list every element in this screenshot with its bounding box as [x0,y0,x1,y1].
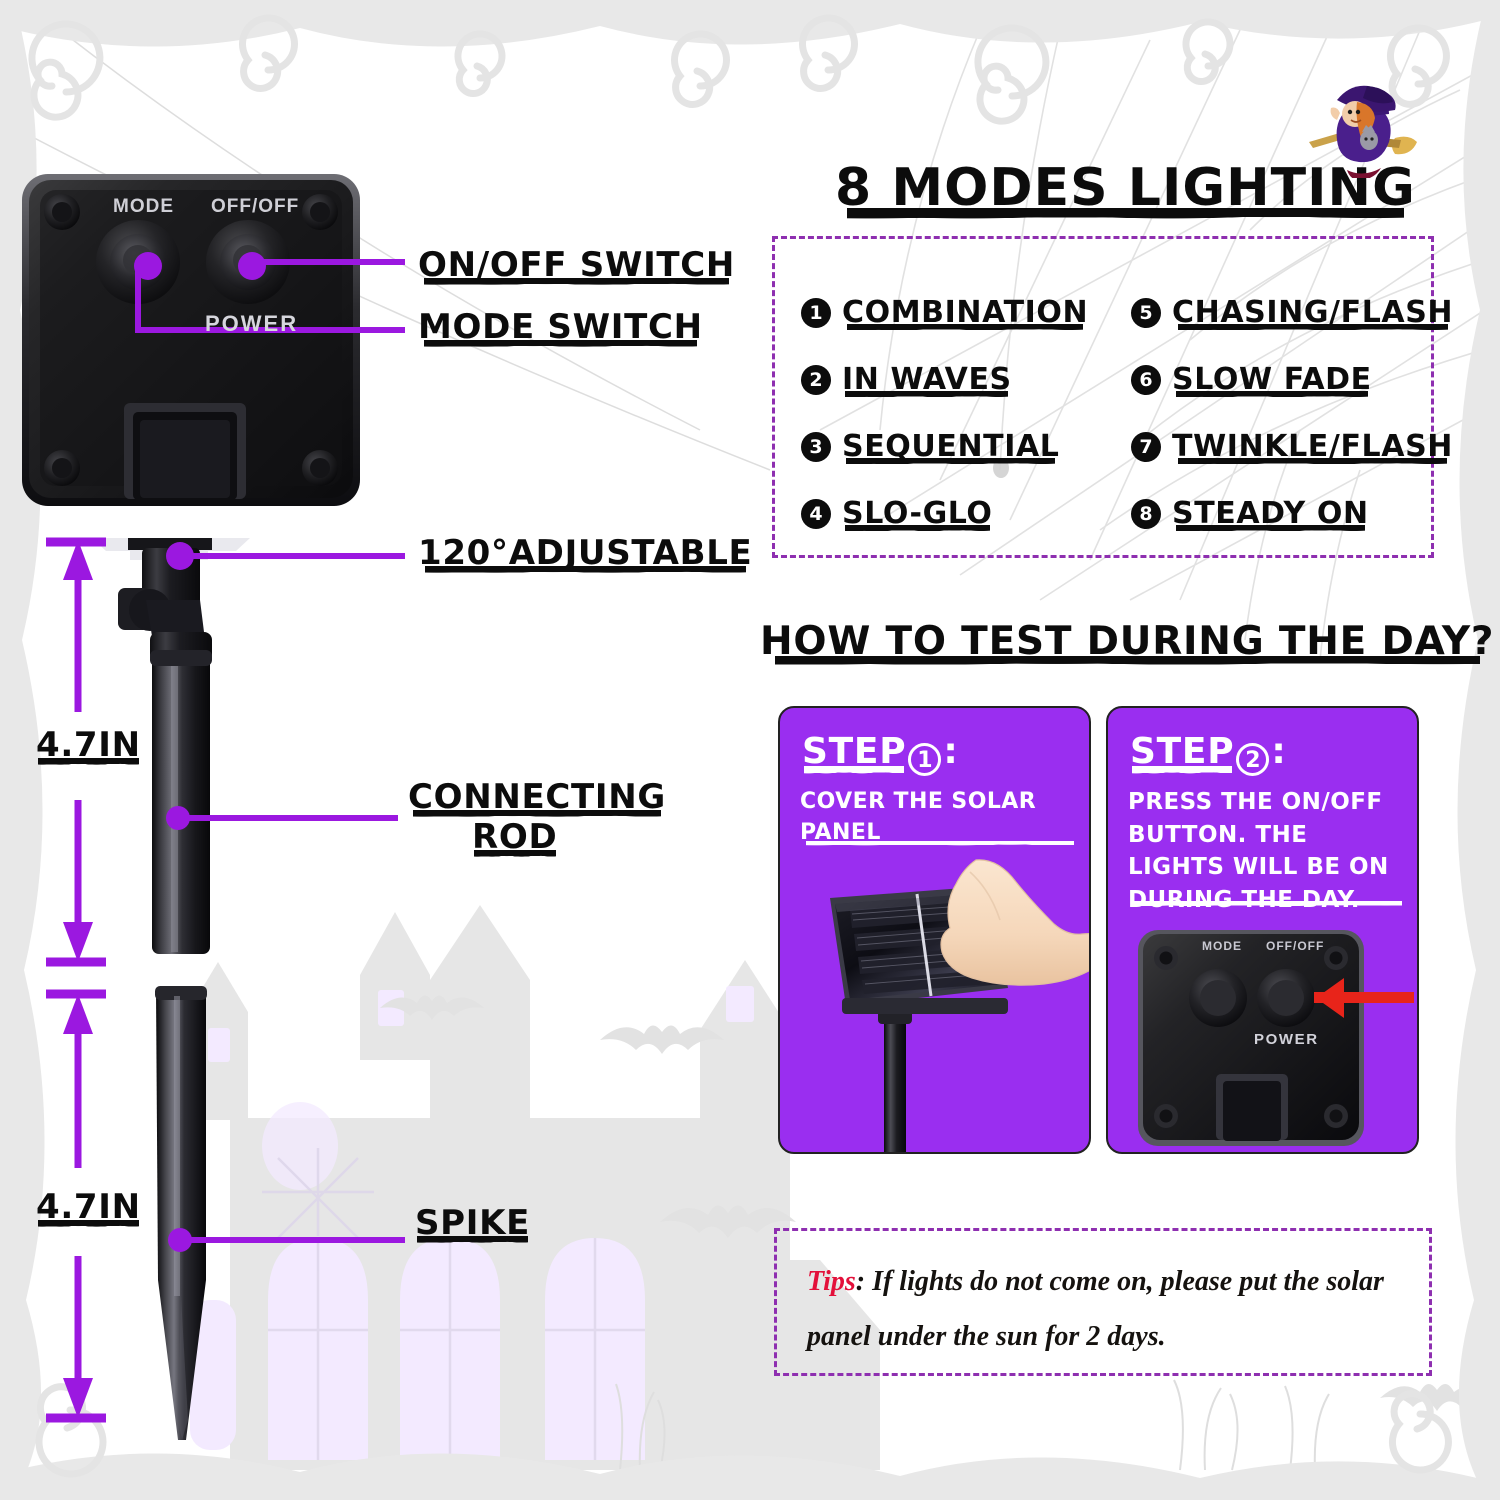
mode-number-7: 7 [1131,432,1161,462]
mode-number-2: 2 [801,365,831,395]
howto-section-title: HOW TO TEST DURING THE DAY? [760,620,1494,664]
step-1-illustration [780,856,1091,1154]
mode-number-6: 6 [1131,365,1161,395]
mode-item-3: 3 SEQUENTIAL [801,413,1131,480]
mode-label-8: STEADY ON [1172,499,1369,529]
mode-item-6: 6 SLOW FADE [1131,346,1461,413]
witch-on-broom-icon [1303,78,1423,178]
label-dimension-top: 4.7IN [36,726,141,765]
mode-item-5: 5 CHASING/FLASH [1131,279,1461,346]
mode-number-1: 1 [801,298,831,328]
label-120-adjustable: 120°ADJUSTABLE [418,534,752,573]
label-connecting-rod-line2: ROD [472,818,557,857]
mode-label-2: IN WAVES [842,365,1012,395]
infographic-page: ON/OFF SWITCH MODE SWITCH 120°ADJUSTABLE… [0,0,1500,1500]
mode-label-1: COMBINATION [842,298,1088,328]
panel-power-text: POWER [205,311,298,337]
step-2-heading: STEP2: [1130,730,1286,776]
svg-text:MODE: MODE [1202,939,1242,953]
mode-number-3: 3 [801,432,831,462]
svg-text:POWER: POWER [1254,1031,1319,1048]
mode-number-5: 5 [1131,298,1161,328]
step-2-body: PRESS THE ON/OFF BUTTON. THE LIGHTS WILL… [1128,786,1408,917]
mode-item-8: 8 STEADY ON [1131,480,1461,547]
mode-label-4: SLO-GLO [842,499,993,529]
mode-label-7: TWINKLE/FLASH [1172,432,1453,462]
step-card-1: STEP1: COVER THE SOLAR PANEL [778,706,1091,1154]
mode-item-7: 7 TWINKLE/FLASH [1131,413,1461,480]
mode-label-3: SEQUENTIAL [842,432,1060,462]
step-card-2: STEP2: PRESS THE ON/OFF BUTTON. THE LIGH… [1106,706,1419,1154]
mode-number-4: 4 [801,499,831,529]
step-1-circle-number: 1 [908,743,941,776]
step-1-heading: STEP1: [802,730,958,776]
step-1-colon: : [943,731,957,772]
modes-list-box: 1 COMBINATION 5 CHASING/FLASH 2 IN WAVES… [772,236,1434,558]
hand-icon [941,860,1091,985]
label-on-off-switch: ON/OFF SWITCH [418,246,735,285]
modes-grid: 1 COMBINATION 5 CHASING/FLASH 2 IN WAVES… [775,239,1431,555]
mode-number-8: 8 [1131,499,1161,529]
mode-item-1: 1 COMBINATION [801,279,1131,346]
tips-lead-label: Tips [807,1266,856,1297]
step-2-colon: : [1271,731,1285,772]
label-connecting-rod-line1: CONNECTING [408,778,666,817]
step-2-circle-number: 2 [1236,743,1269,776]
mode-item-4: 4 SLO-GLO [801,480,1131,547]
svg-text:OFF/OFF: OFF/OFF [1266,939,1324,953]
label-mode-switch: MODE SWITCH [418,308,703,347]
step-2-illustration: MODE OFF/OFF POWER [1108,916,1419,1154]
label-dimension-bottom: 4.7IN [36,1188,141,1227]
step-1-body: COVER THE SOLAR PANEL [800,786,1080,848]
dimension-arrows [46,540,106,1418]
tips-text: Tips: If lights do not come on, please p… [807,1255,1407,1364]
tips-body: If lights do not come on, please put the… [807,1266,1384,1352]
panel-mode-text: MODE [113,196,174,218]
label-spike: SPIKE [415,1204,530,1243]
panel-offoff-text: OFF/OFF [211,196,299,218]
mode-label-5: CHASING/FLASH [1172,298,1453,328]
mode-label-6: SLOW FADE [1172,365,1372,395]
mode-item-2: 2 IN WAVES [801,346,1131,413]
tips-box: Tips: If lights do not come on, please p… [774,1228,1432,1376]
tips-separator: : [856,1266,872,1297]
